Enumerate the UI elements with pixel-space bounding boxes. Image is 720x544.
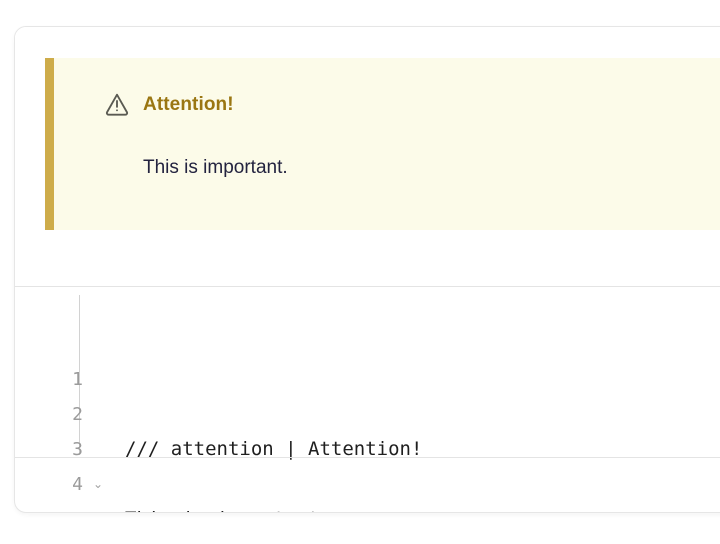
editor-bottom-divider xyxy=(15,457,720,458)
line-number: 4 xyxy=(45,467,83,502)
code-line-text: This is important. xyxy=(125,502,331,513)
admonition-body: This is important. xyxy=(143,155,288,182)
warning-triangle-icon xyxy=(104,91,130,117)
admonition-title-row: Attention! xyxy=(104,91,234,117)
code-line[interactable]: 1 /// attention | Attention! xyxy=(45,327,720,362)
source-editor[interactable]: 1 /// attention | Attention! 2 3 ⌄ This … xyxy=(15,287,720,457)
code-line[interactable]: 3 ⌄ This is important. xyxy=(45,397,720,432)
admonition-attention: Attention! This is important. xyxy=(45,58,720,230)
code-line[interactable]: 2 xyxy=(45,362,720,397)
rendered-preview: Attention! This is important. xyxy=(15,27,720,286)
admonition-title: Attention! xyxy=(143,95,234,114)
preview-card: Attention! This is important. 1 /// atte… xyxy=(14,26,720,513)
code-lines: 1 /// attention | Attention! 2 3 ⌄ This … xyxy=(45,327,720,467)
code-line[interactable]: 4 /// xyxy=(45,432,720,467)
